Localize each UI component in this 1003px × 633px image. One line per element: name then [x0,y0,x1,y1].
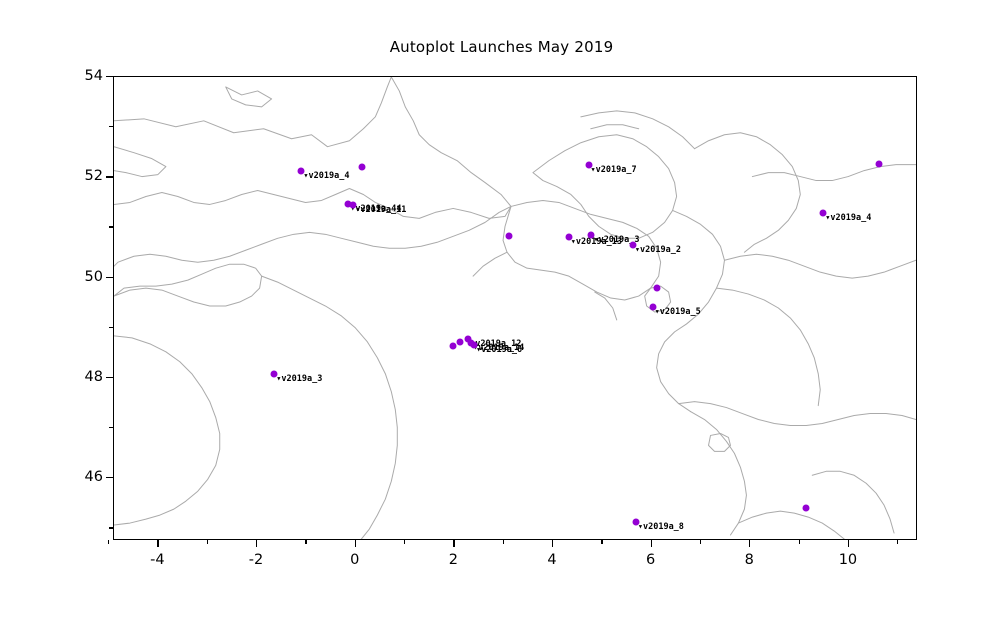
x-tick-minor [601,540,602,544]
x-tick-label: 6 [646,552,655,568]
data-point-label: ▾v2019a_4 [303,171,349,181]
x-tick-label: -2 [249,552,263,568]
data-points-layer: ▾v2019a_4▾v2019a_44▾v2019a_11▾v2019a_7▾v… [114,77,916,539]
x-tick-label: 2 [449,552,458,568]
y-tick-minor [109,126,113,127]
y-tick-minor [109,327,113,328]
data-point-marker [457,338,464,345]
y-tick-major [106,277,113,278]
data-point-marker [358,164,365,171]
plot-area: ▾v2019a_4▾v2019a_44▾v2019a_11▾v2019a_7▾v… [113,76,917,540]
x-tick-label: 10 [839,552,857,568]
y-tick-major [106,176,113,177]
data-point-label: ▾v2019a_2 [635,245,681,255]
figure-canvas: Autoplot Launches May 2019 [0,0,1003,633]
x-tick-minor [799,540,800,544]
data-point-label: ▾v2019a_3 [276,374,322,384]
x-tick-minor [404,540,405,544]
x-tick-major [157,540,158,547]
x-tick-major [552,540,553,547]
x-tick-minor [503,540,504,544]
y-tick-label: 54 [61,68,103,84]
x-tick-minor [305,540,306,544]
data-point-label: ▾v2019a_6 [476,345,522,355]
x-tick-major [355,540,356,547]
x-tick-minor [700,540,701,544]
data-point-marker [450,342,457,349]
x-tick-minor [207,540,208,544]
data-point-label: ▾v2019a_7 [591,165,637,175]
y-tick-minor [109,427,113,428]
x-tick-label: -4 [150,552,164,568]
data-point-label: ▾v2019a_5 [655,307,701,317]
y-tick-label: 48 [61,369,103,385]
x-tick-label: 8 [745,552,754,568]
data-point-marker [653,284,660,291]
y-tick-minor [109,527,113,528]
page-title: Autoplot Launches May 2019 [0,38,1003,56]
data-point-label: ▾v2019a_8 [638,522,684,532]
x-tick-major [453,540,454,547]
x-tick-label: 0 [350,552,359,568]
data-point-marker [875,161,882,168]
data-point-label: ▾v2019a_11 [355,205,406,215]
x-tick-minor [108,540,109,544]
x-tick-minor [897,540,898,544]
y-tick-minor [109,226,113,227]
data-point-marker [505,233,512,240]
x-tick-major [749,540,750,547]
y-tick-label: 50 [61,269,103,285]
y-tick-label: 46 [61,469,103,485]
x-tick-label: 4 [547,552,556,568]
x-tick-major [651,540,652,547]
y-tick-label: 52 [61,168,103,184]
data-point-marker [802,505,809,512]
data-point-label: ▾v2019a_4 [825,213,871,223]
x-tick-major [848,540,849,547]
y-tick-major [106,76,113,77]
y-tick-major [106,477,113,478]
y-tick-major [106,377,113,378]
x-tick-major [256,540,257,547]
